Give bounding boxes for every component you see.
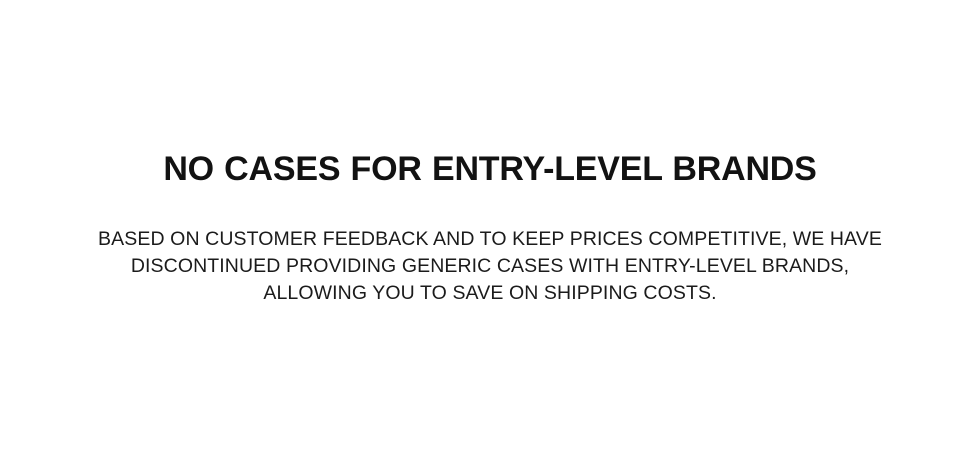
notice-heading: NO CASES FOR ENTRY-LEVEL BRANDS: [163, 150, 816, 188]
notice-content-block: NO CASES FOR ENTRY-LEVEL BRANDS BASED ON…: [40, 150, 940, 307]
notice-body-text: BASED ON CUSTOMER FEEDBACK AND TO KEEP P…: [90, 188, 890, 307]
notice-section: NO CASES FOR ENTRY-LEVEL BRANDS BASED ON…: [0, 0, 980, 450]
